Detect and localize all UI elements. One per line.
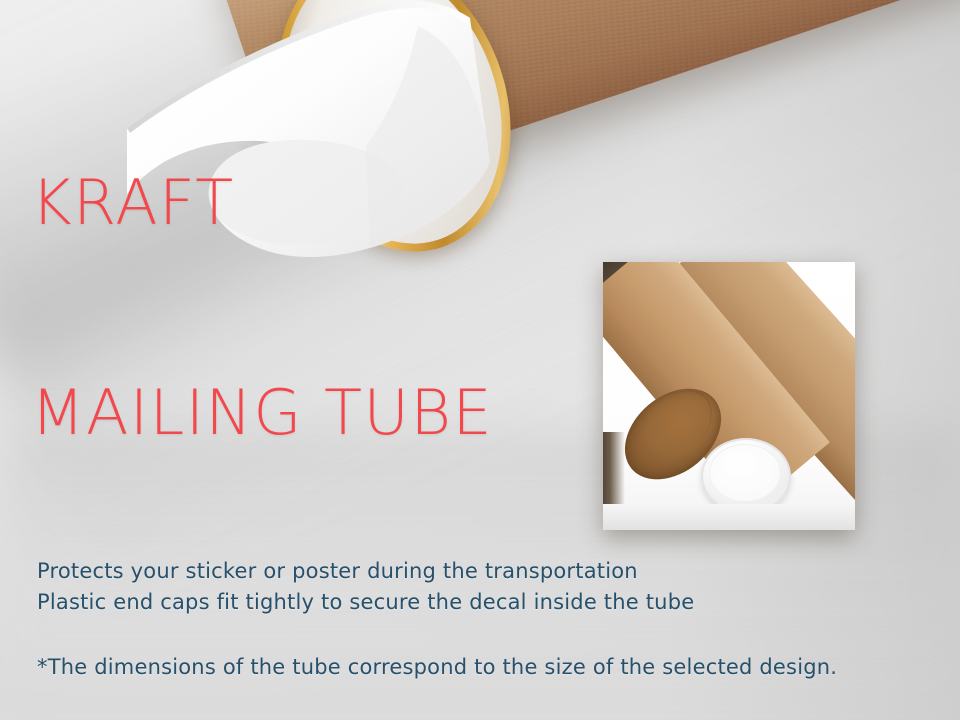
title-line-2: MAILING TUBE [31,378,493,448]
page-title: KRAFT MAILING TUBE [31,28,493,588]
inset-loose-end-cap-inner [709,444,781,502]
inset-photo-canvas [603,262,855,530]
inset-floor [603,504,855,530]
feature-description: Protects your sticker or poster during t… [37,556,694,618]
title-line-1: KRAFT [31,168,493,238]
feature-line-2: Plastic end caps fit tightly to secure t… [37,587,694,618]
feature-line-1: Protects your sticker or poster during t… [37,556,694,587]
poster-canvas: KRAFT MAILING TUBE Protects your sticker… [0,0,960,720]
footnote-text: *The dimensions of the tube correspond t… [37,655,837,679]
product-detail-photo [603,262,855,530]
